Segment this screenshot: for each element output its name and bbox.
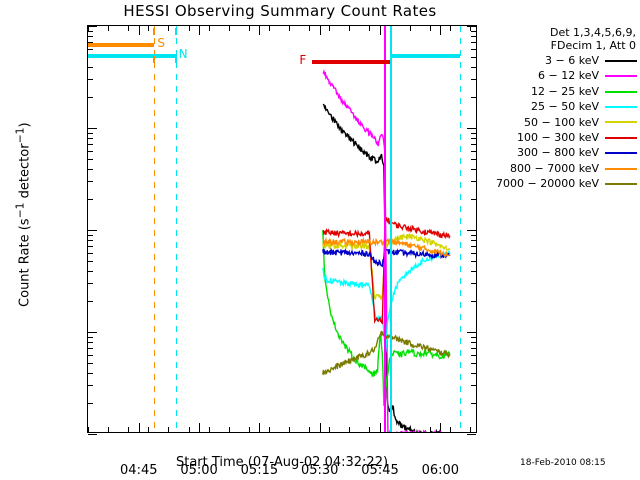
legend-item: 50 − 100 keV bbox=[495, 115, 640, 130]
flare-peak-line bbox=[384, 26, 386, 432]
night-start-line bbox=[390, 26, 392, 432]
legend-item-label: 7000 − 20000 keV bbox=[495, 176, 604, 191]
event-boundary-cap bbox=[153, 56, 155, 63]
flare-bar-label: F bbox=[299, 53, 306, 67]
night-bar-1 bbox=[88, 54, 176, 58]
legend-item-swatch bbox=[604, 84, 640, 99]
legend-item-label: 100 − 300 keV bbox=[495, 130, 604, 145]
y-major-tick bbox=[467, 434, 476, 435]
legend-item: 800 − 7000 keV bbox=[495, 161, 640, 176]
chart-title: HESSI Observing Summary Count Rates bbox=[0, 2, 560, 20]
legend-item-swatch bbox=[604, 161, 640, 176]
night-bar-2 bbox=[390, 54, 460, 58]
legend-item-swatch bbox=[604, 99, 640, 114]
legend-entries: 3 − 6 keV6 − 12 keV12 − 25 keV25 − 50 ke… bbox=[495, 53, 640, 192]
event-boundary-cap bbox=[175, 56, 177, 63]
legend-header-fdecim: FDecim 1, Att 0 bbox=[487, 39, 640, 52]
legend-item-swatch bbox=[604, 130, 640, 145]
saa-bar-label: S bbox=[157, 36, 165, 50]
event-boundary-cap bbox=[175, 28, 177, 35]
legend-item-label: 12 − 25 keV bbox=[495, 84, 604, 99]
legend-item-swatch bbox=[604, 115, 640, 130]
series-canvas bbox=[88, 26, 476, 432]
x-tick-label: 06:00 bbox=[405, 463, 475, 478]
legend-item-swatch bbox=[604, 176, 640, 191]
legend-item-label: 50 − 100 keV bbox=[495, 115, 604, 130]
data-canvas: SNF bbox=[88, 26, 476, 432]
legend-item: 300 − 800 keV bbox=[495, 145, 640, 160]
saa-bar bbox=[88, 43, 154, 47]
night-end-line-2 bbox=[460, 26, 461, 432]
y-major-tick bbox=[88, 434, 97, 435]
legend-item-label: 25 − 50 keV bbox=[495, 99, 604, 114]
legend-item: 100 − 300 keV bbox=[495, 130, 640, 145]
plot-area: 110100100010000 04:4505:0005:1505:3005:4… bbox=[87, 25, 477, 433]
legend-item: 25 − 50 keV bbox=[495, 99, 640, 114]
legend-item-label: 3 − 6 keV bbox=[495, 53, 604, 68]
series-line bbox=[323, 104, 442, 432]
legend-item-swatch bbox=[604, 68, 640, 83]
legend-item-label: 6 − 12 keV bbox=[495, 68, 604, 83]
legend-item-swatch bbox=[604, 145, 640, 160]
legend-item: 7000 − 20000 keV bbox=[495, 176, 640, 191]
legend-header-det: Det 1,3,4,5,6,9, bbox=[487, 26, 640, 39]
event-boundary-cap bbox=[153, 28, 155, 35]
generation-timestamp: 18-Feb-2010 08:15 bbox=[520, 458, 606, 468]
legend-item: 12 − 25 keV bbox=[495, 84, 640, 99]
night-bar-1-label: N bbox=[179, 47, 188, 61]
flare-bar bbox=[312, 60, 390, 64]
legend-item: 3 − 6 keV bbox=[495, 53, 640, 68]
legend-item-label: 800 − 7000 keV bbox=[495, 161, 604, 176]
saa-end-line bbox=[154, 26, 155, 432]
legend-item-swatch bbox=[604, 53, 640, 68]
legend-item: 6 − 12 keV bbox=[495, 68, 640, 83]
night-end-line bbox=[176, 26, 177, 432]
legend-item-label: 300 − 800 keV bbox=[495, 145, 604, 160]
legend: Det 1,3,4,5,6,9, FDecim 1, Att 0 3 − 6 k… bbox=[487, 26, 640, 192]
y-axis-label: Count Rate (s−1 detector−1) bbox=[13, 100, 32, 330]
chart-figure: HESSI Observing Summary Count Rates Coun… bbox=[0, 0, 640, 480]
